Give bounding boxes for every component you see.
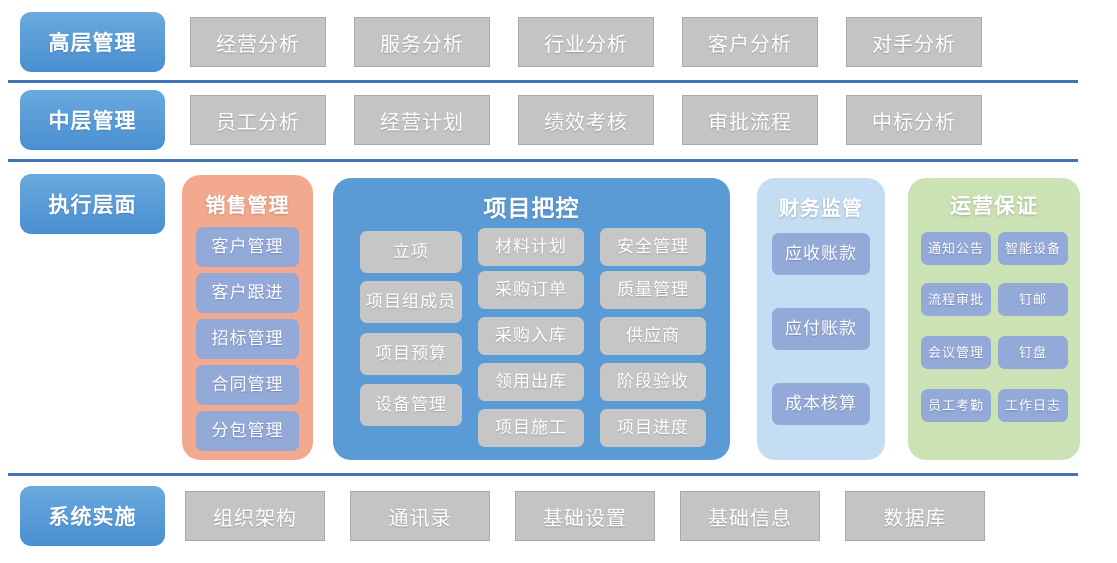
tile-project-c1-2[interactable]: 项目组成员 — [360, 281, 462, 323]
tile-label: 材料计划 — [495, 238, 567, 256]
tile-label: 应收账款 — [785, 245, 857, 263]
panel-project-control: 项目把控 立项 项目组成员 项目预算 设备管理 材料计划 采购订单 采购入库 领… — [333, 178, 730, 460]
panel-operations-assurance: 运营保证 通知公告 流程审批 会议管理 员工考勤 智能设备 钉邮 钉盘 工作日志 — [908, 178, 1080, 460]
architecture-diagram: 高层管理 经营分析 服务分析 行业分析 客户分析 对手分析 中层管理 员工分析 … — [0, 0, 1117, 563]
tile-project-c3-5[interactable]: 项目进度 — [600, 409, 706, 447]
panel-operations-title: 运营保证 — [908, 190, 1080, 220]
tile-label: 成本核算 — [785, 395, 857, 413]
tile-project-c3-1[interactable]: 安全管理 — [600, 228, 706, 266]
tile-sales-1[interactable]: 客户管理 — [196, 227, 299, 267]
module-button-label: 对手分析 — [872, 28, 956, 57]
tile-label: 阶段验收 — [617, 373, 689, 391]
tile-sales-3[interactable]: 招标管理 — [196, 319, 299, 359]
tile-label: 钉盘 — [1019, 346, 1047, 360]
tile-project-c1-3[interactable]: 项目预算 — [360, 333, 462, 375]
module-button-middle-2[interactable]: 经营计划 — [354, 95, 490, 145]
category-pill-implementation-label: 系统实施 — [49, 501, 137, 531]
module-button-label: 客户分析 — [708, 28, 792, 57]
tile-label: 合同管理 — [212, 376, 284, 394]
tile-label: 流程审批 — [928, 293, 984, 307]
tile-sales-2[interactable]: 客户跟进 — [196, 273, 299, 313]
module-button-implementation-3[interactable]: 基础设置 — [515, 491, 655, 541]
tile-label: 采购订单 — [495, 281, 567, 299]
category-pill-middle-label: 中层管理 — [49, 105, 137, 135]
tile-label: 项目预算 — [375, 345, 447, 363]
category-pill-middle[interactable]: 中层管理 — [20, 90, 165, 150]
tile-project-c3-3[interactable]: 供应商 — [600, 317, 706, 355]
panel-project-title: 项目把控 — [333, 189, 730, 223]
tile-label: 安全管理 — [617, 238, 689, 256]
tile-ops-c2-2[interactable]: 钉邮 — [998, 283, 1068, 316]
category-pill-execution[interactable]: 执行层面 — [20, 174, 165, 234]
category-pill-implementation[interactable]: 系统实施 — [20, 486, 165, 546]
tile-label: 设备管理 — [375, 396, 447, 414]
module-button-executive-4[interactable]: 客户分析 — [682, 17, 818, 67]
module-button-label: 基础设置 — [543, 502, 627, 531]
row-divider-2 — [8, 159, 1078, 162]
tile-label: 立项 — [393, 243, 429, 261]
tile-ops-c2-3[interactable]: 钉盘 — [998, 336, 1068, 369]
module-button-implementation-1[interactable]: 组织架构 — [185, 491, 325, 541]
tile-finance-1[interactable]: 应收账款 — [772, 233, 870, 275]
tile-ops-c1-2[interactable]: 流程审批 — [921, 283, 991, 316]
tile-label: 智能设备 — [1005, 242, 1061, 256]
module-button-executive-2[interactable]: 服务分析 — [354, 17, 490, 67]
module-button-implementation-5[interactable]: 数据库 — [845, 491, 985, 541]
tile-project-c2-2[interactable]: 采购订单 — [478, 271, 584, 309]
tile-label: 项目进度 — [617, 419, 689, 437]
tile-label: 工作日志 — [1005, 399, 1061, 413]
module-button-label: 绩效考核 — [544, 106, 628, 135]
tile-label: 客户管理 — [212, 238, 284, 256]
module-button-implementation-4[interactable]: 基础信息 — [680, 491, 820, 541]
tile-project-c2-4[interactable]: 领用出库 — [478, 363, 584, 401]
tile-ops-c1-3[interactable]: 会议管理 — [921, 336, 991, 369]
module-button-executive-5[interactable]: 对手分析 — [846, 17, 982, 67]
tile-sales-5[interactable]: 分包管理 — [196, 411, 299, 451]
tile-ops-c1-4[interactable]: 员工考勤 — [921, 389, 991, 422]
panel-sales-title: 销售管理 — [182, 189, 313, 218]
tile-sales-4[interactable]: 合同管理 — [196, 365, 299, 405]
tile-project-c2-3[interactable]: 采购入库 — [478, 317, 584, 355]
module-button-label: 行业分析 — [544, 28, 628, 57]
module-button-middle-3[interactable]: 绩效考核 — [518, 95, 654, 145]
tile-label: 通知公告 — [928, 242, 984, 256]
panel-financial-supervision: 财务监管 应收账款 应付账款 成本核算 — [757, 178, 885, 460]
category-pill-executive-label: 高层管理 — [49, 27, 137, 57]
module-button-middle-5[interactable]: 中标分析 — [846, 95, 982, 145]
tile-finance-2[interactable]: 应付账款 — [772, 308, 870, 350]
module-button-label: 基础信息 — [708, 502, 792, 531]
tile-project-c1-4[interactable]: 设备管理 — [360, 384, 462, 426]
tile-ops-c1-1[interactable]: 通知公告 — [921, 232, 991, 265]
tile-label: 供应商 — [626, 327, 680, 345]
module-button-middle-1[interactable]: 员工分析 — [190, 95, 326, 145]
tile-label: 分包管理 — [212, 422, 284, 440]
tile-label: 项目组成员 — [366, 293, 456, 311]
module-button-label: 组织架构 — [213, 502, 297, 531]
module-button-label: 服务分析 — [380, 28, 464, 57]
tile-label: 钉邮 — [1019, 293, 1047, 307]
tile-project-c2-5[interactable]: 项目施工 — [478, 409, 584, 447]
tile-ops-c2-4[interactable]: 工作日志 — [998, 389, 1068, 422]
tile-label: 应付账款 — [785, 320, 857, 338]
tile-ops-c2-1[interactable]: 智能设备 — [998, 232, 1068, 265]
row-divider-3 — [8, 473, 1078, 476]
tile-label: 会议管理 — [928, 346, 984, 360]
module-button-label: 审批流程 — [708, 106, 792, 135]
module-button-label: 通讯录 — [389, 502, 452, 531]
panel-finance-title: 财务监管 — [757, 192, 885, 221]
tile-project-c1-1[interactable]: 立项 — [360, 231, 462, 273]
tile-label: 员工考勤 — [928, 399, 984, 413]
module-button-middle-4[interactable]: 审批流程 — [682, 95, 818, 145]
tile-label: 客户跟进 — [212, 284, 284, 302]
row-divider-1 — [8, 80, 1078, 83]
tile-label: 项目施工 — [495, 419, 567, 437]
category-pill-execution-label: 执行层面 — [49, 189, 137, 219]
tile-project-c3-4[interactable]: 阶段验收 — [600, 363, 706, 401]
module-button-label: 中标分析 — [872, 106, 956, 135]
panel-sales-management: 销售管理 客户管理 客户跟进 招标管理 合同管理 分包管理 — [182, 175, 313, 460]
module-button-implementation-2[interactable]: 通讯录 — [350, 491, 490, 541]
module-button-label: 经营计划 — [380, 106, 464, 135]
tile-label: 采购入库 — [495, 327, 567, 345]
tile-label: 领用出库 — [495, 373, 567, 391]
module-button-executive-3[interactable]: 行业分析 — [518, 17, 654, 67]
category-pill-executive[interactable]: 高层管理 — [20, 12, 165, 72]
tile-label: 招标管理 — [212, 330, 284, 348]
tile-project-c2-1[interactable]: 材料计划 — [478, 228, 584, 266]
tile-project-c3-2[interactable]: 质量管理 — [600, 271, 706, 309]
module-button-label: 员工分析 — [216, 106, 300, 135]
tile-finance-3[interactable]: 成本核算 — [772, 383, 870, 425]
module-button-executive-1[interactable]: 经营分析 — [190, 17, 326, 67]
module-button-label: 数据库 — [884, 502, 947, 531]
tile-label: 质量管理 — [617, 281, 689, 299]
module-button-label: 经营分析 — [216, 28, 300, 57]
